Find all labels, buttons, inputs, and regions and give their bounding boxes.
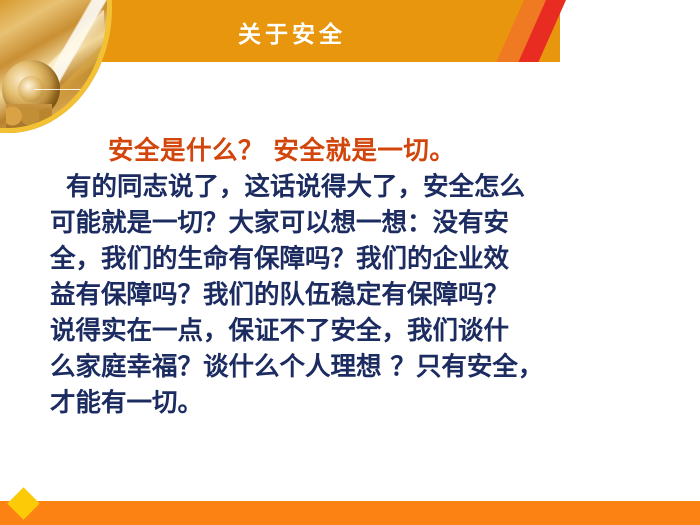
body-line: 全，我们的生命有保障吗？我们的企业效	[50, 241, 656, 277]
body-line: 么家庭幸福？谈什么个人理想 ？只有安全，	[50, 349, 656, 385]
body-line: 益有保障吗？我们的队伍稳定有保障吗？	[50, 277, 656, 313]
slide-canvas: 关于安全 安全是什么？ 安全就是一切。 有的同志说了，这话说得大了，安全怎么 可…	[0, 0, 700, 525]
page-title: 关于安全	[238, 15, 346, 49]
body-line: 说得实在一点，保证不了安全，我们谈什	[50, 313, 656, 349]
body-line: 可能就是一切？大家可以想一想：没有安	[50, 205, 656, 241]
body-copy: 安全是什么？ 安全就是一切。 有的同志说了，这话说得大了，安全怎么 可能就是一切…	[50, 133, 656, 421]
footer-bar	[0, 501, 700, 525]
gold-machinery-graphic	[0, 0, 112, 133]
body-line-highlight: 安全是什么？ 安全就是一切。	[50, 133, 656, 169]
brass-gear-icon	[6, 104, 52, 133]
body-line: 有的同志说了，这话说得大了，安全怎么	[50, 169, 656, 205]
body-line: 才能有一切。	[50, 385, 656, 421]
decor-divider-line	[34, 89, 104, 90]
